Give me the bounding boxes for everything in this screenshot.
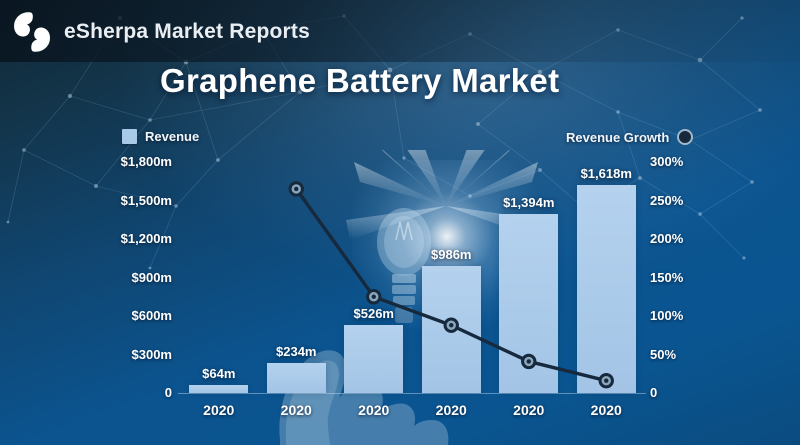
legend-revenue: Revenue [122, 129, 199, 144]
growth-line-marker-center [294, 187, 298, 191]
bar-value-label: $1,618m [561, 166, 651, 181]
y-axis-left-tick: $900m [132, 270, 172, 285]
y-axis-left-tick: $1,200m [121, 231, 172, 246]
growth-line-marker[interactable] [290, 183, 302, 195]
x-axis-tick: 2020 [266, 402, 326, 418]
esherpa-s-logo-icon [10, 9, 54, 55]
bar[interactable] [422, 266, 481, 393]
bar[interactable] [267, 363, 326, 393]
legend-growth-label: Revenue Growth [566, 130, 669, 145]
circle-marker-icon [677, 129, 693, 145]
growth-line-marker-center [372, 295, 376, 299]
y-axis-right-tick: 100% [650, 308, 683, 323]
y-axis-right-tick: 250% [650, 193, 683, 208]
y-axis-right-tick: 300% [650, 154, 683, 169]
page-title: Graphene Battery Market [160, 62, 559, 100]
bar-value-label: $64m [174, 366, 264, 381]
y-axis-right-tick: 50% [650, 347, 676, 362]
y-axis-left-tick: $600m [132, 308, 172, 323]
axis-baseline [178, 393, 646, 394]
y-axis-right-tick: 150% [650, 270, 683, 285]
infographic-canvas: eSherpa Market Reports Graphene Battery … [0, 0, 800, 445]
x-axis-tick: 2020 [421, 402, 481, 418]
brand-name: eSherpa Market Reports [64, 20, 310, 44]
bar-value-label: $986m [406, 247, 496, 262]
x-axis-tick: 2020 [189, 402, 249, 418]
x-axis-tick: 2020 [576, 402, 636, 418]
bar[interactable] [189, 385, 248, 393]
bar-value-label: $1,394m [484, 195, 574, 210]
bar-value-label: $234m [251, 344, 341, 359]
square-swatch-icon [122, 129, 137, 144]
y-axis-left-tick: 0 [165, 385, 172, 400]
y-axis-left-tick: $1,500m [121, 193, 172, 208]
y-axis-right-tick: 0 [650, 385, 657, 400]
bar-value-label: $526m [329, 306, 419, 321]
legend-revenue-label: Revenue [145, 129, 199, 144]
y-axis-right-tick: 200% [650, 231, 683, 246]
brand-logo: eSherpa Market Reports [10, 9, 310, 55]
bar[interactable] [499, 214, 558, 393]
x-axis-tick: 2020 [499, 402, 559, 418]
bar[interactable] [577, 185, 636, 393]
growth-line-marker[interactable] [368, 291, 380, 303]
bar[interactable] [344, 325, 403, 393]
y-axis-left-tick: $1,800m [121, 154, 172, 169]
legend-revenue-growth: Revenue Growth [566, 129, 693, 145]
y-axis-left-tick: $300m [132, 347, 172, 362]
x-axis-tick: 2020 [344, 402, 404, 418]
